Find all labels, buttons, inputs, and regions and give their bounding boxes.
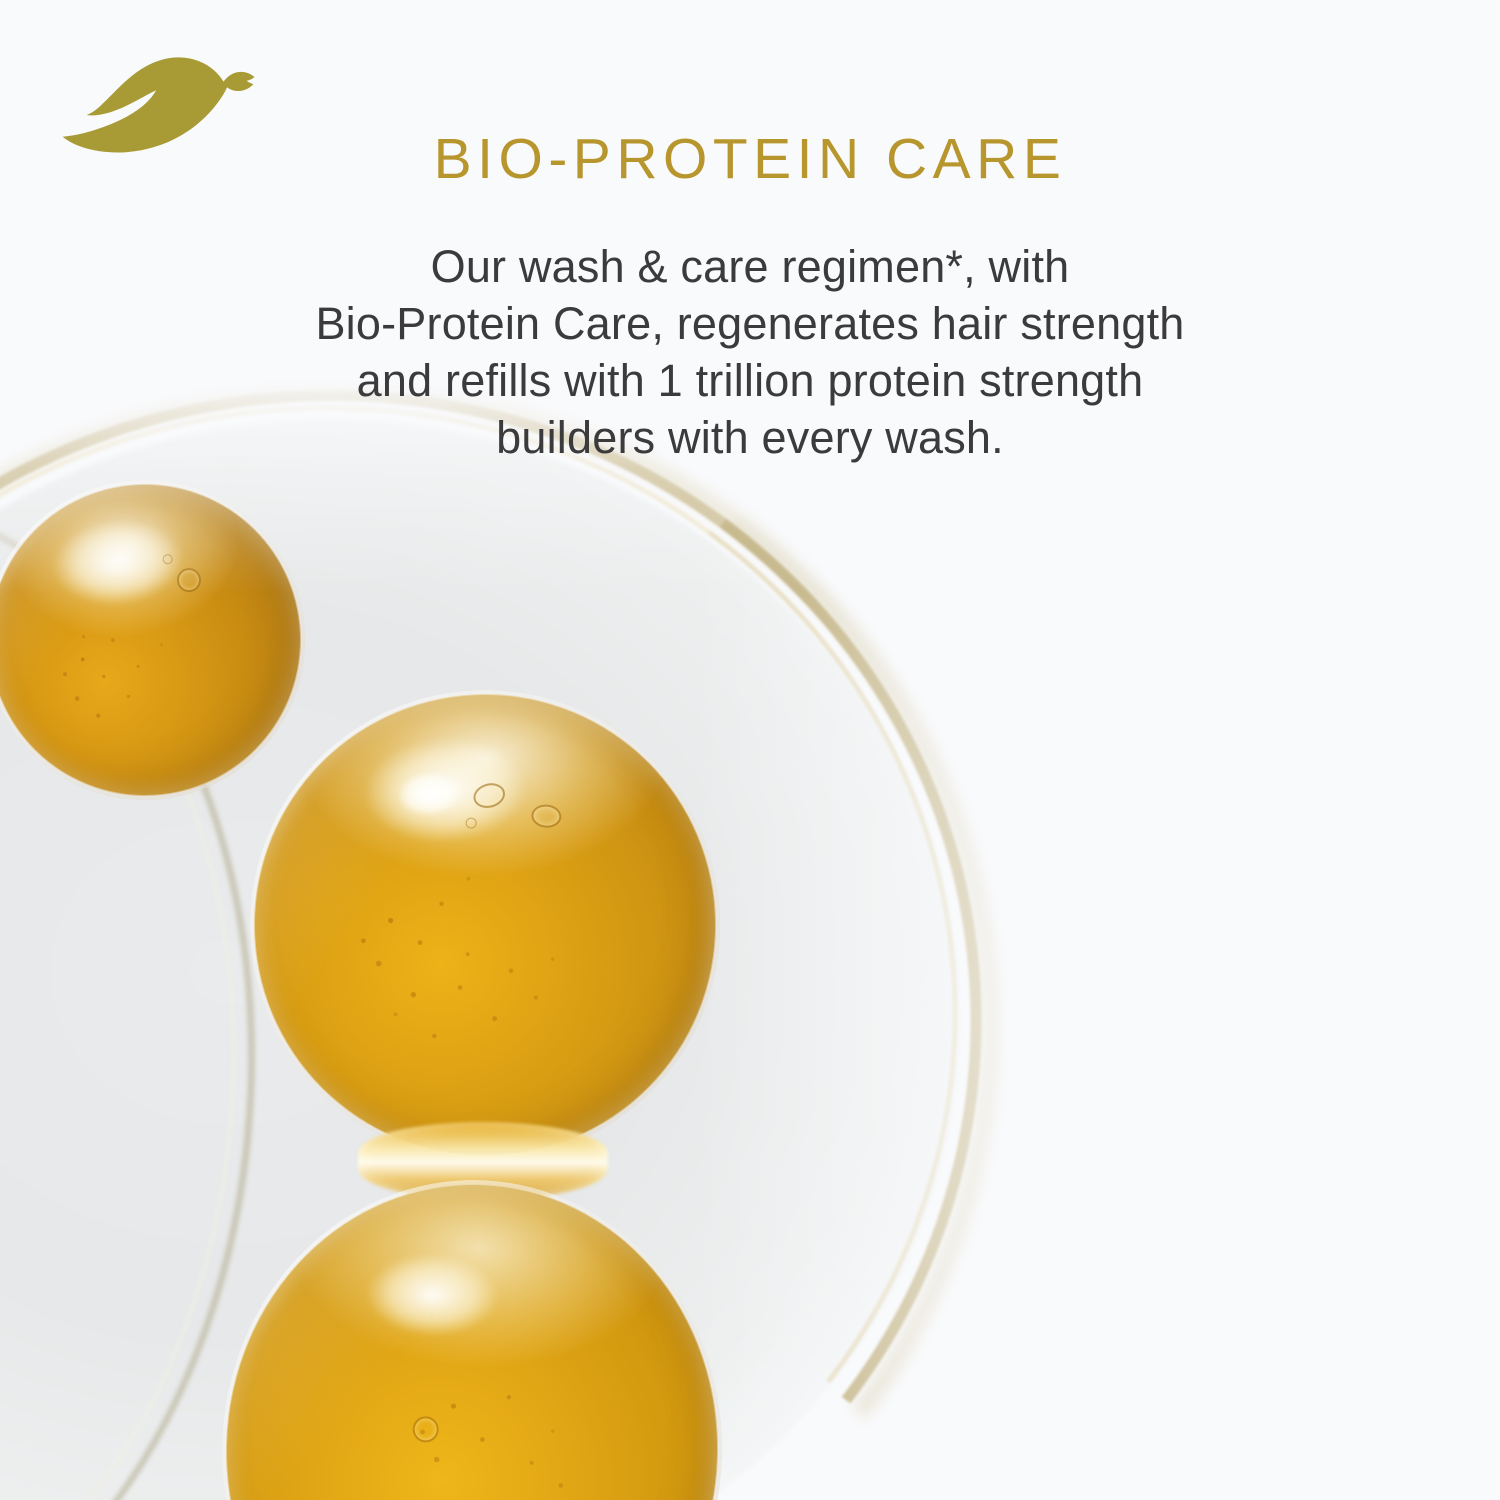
body-line: Bio-Protein Care, regenerates hair stren… (150, 295, 1350, 352)
body-line: builders with every wash. (150, 409, 1350, 466)
body-copy: Our wash & care regimen*, with Bio-Prote… (150, 238, 1350, 466)
body-line: Our wash & care regimen*, with (150, 238, 1350, 295)
ad-content: BIO-PROTEIN CARE Our wash & care regimen… (0, 0, 1500, 1500)
ad-canvas: BIO-PROTEIN CARE Our wash & care regimen… (0, 0, 1500, 1500)
body-line: and refills with 1 trillion protein stre… (150, 352, 1350, 409)
page-title: BIO-PROTEIN CARE (0, 131, 1500, 188)
